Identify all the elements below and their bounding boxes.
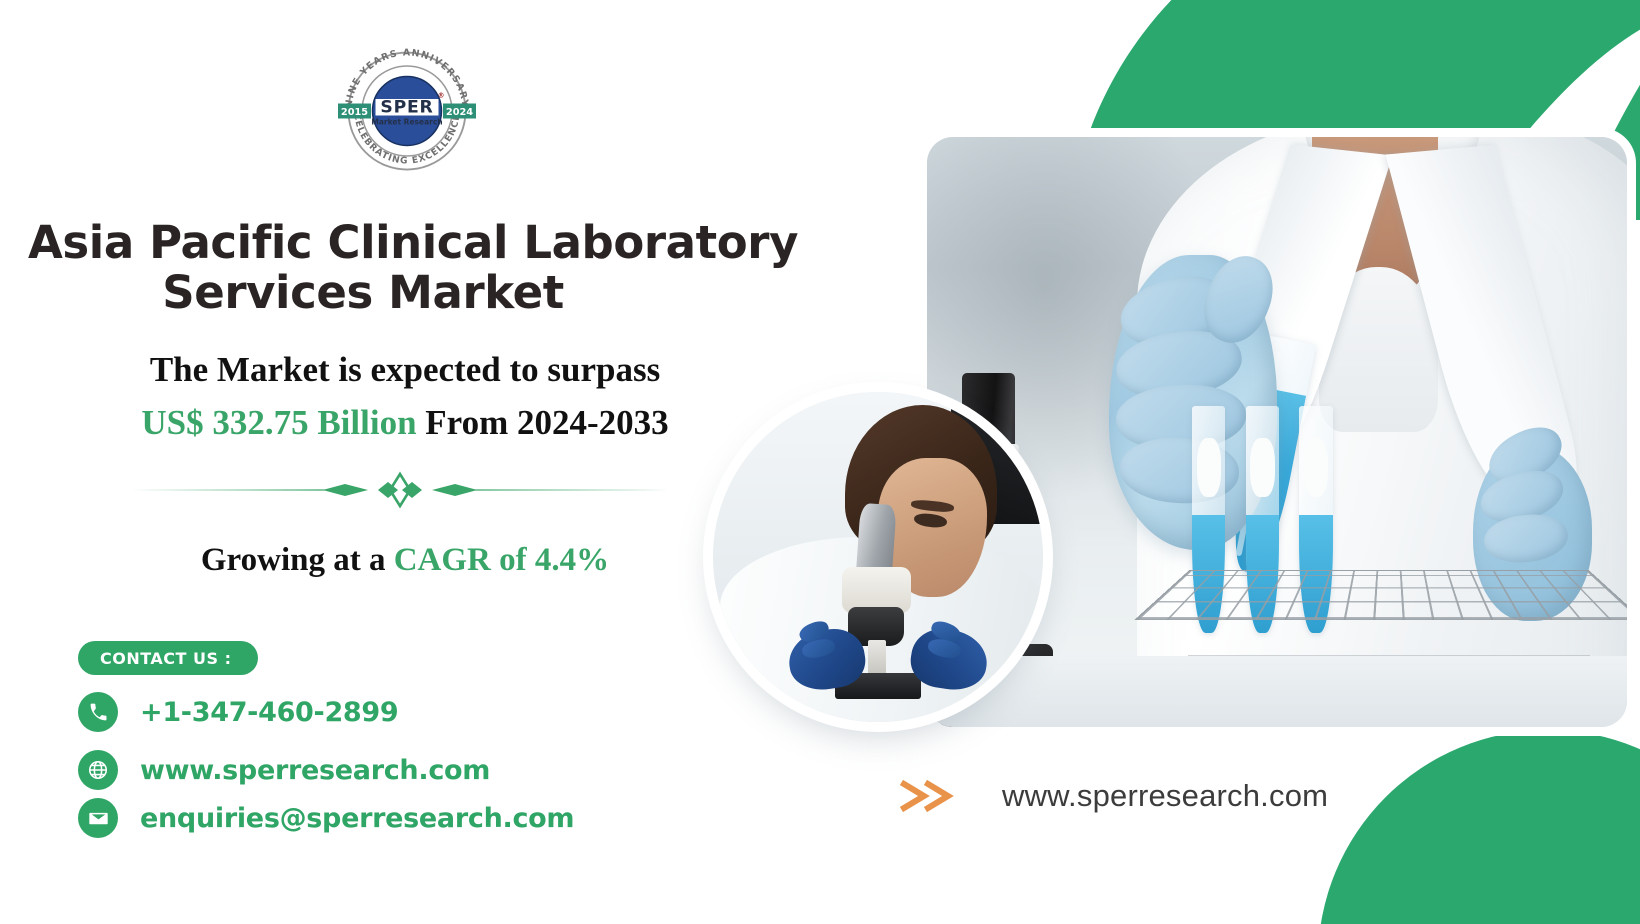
decor-blob-bottom-right	[1318, 730, 1640, 924]
title-line-2: Services Market	[28, 268, 888, 318]
contact-row-website[interactable]: www.sperresearch.com	[78, 750, 490, 790]
cagr-line: Growing at a CAGR of 4.4%	[0, 542, 810, 579]
email-address: enquiries@sperresearch.com	[140, 803, 574, 834]
contact-us-badge: CONTACT US :	[78, 641, 258, 675]
left-content-column: NINE YEARS ANNIVERSARY CELEBRATING EXCEL…	[0, 0, 930, 924]
cagr-value: CAGR of 4.4%	[394, 542, 609, 578]
svg-text:2024: 2024	[446, 107, 473, 118]
contact-us-label: CONTACT US :	[100, 649, 232, 668]
globe-icon	[78, 750, 118, 790]
ornamental-divider	[130, 468, 670, 512]
market-value: US$ 332.75 Billion	[141, 403, 416, 442]
title-line-1: Asia Pacific Clinical Laboratory	[28, 216, 798, 269]
svg-text:Market Research: Market Research	[371, 118, 442, 127]
logo-container: NINE YEARS ANNIVERSARY CELEBRATING EXCEL…	[318, 36, 496, 206]
poster-canvas: NINE YEARS ANNIVERSARY CELEBRATING EXCEL…	[0, 0, 1640, 924]
footer-bar: www.sperresearch.com	[900, 778, 1328, 814]
subhead-line-1: The Market is expected to surpass	[0, 350, 810, 390]
sper-anniversary-badge-icon: NINE YEARS ANNIVERSARY CELEBRATING EXCEL…	[332, 36, 482, 186]
forecast-period: From 2024-2033	[425, 403, 668, 442]
phone-icon	[78, 692, 118, 732]
double-chevron-right-icon	[900, 779, 960, 813]
phone-number: +1-347-460-2899	[140, 697, 398, 728]
svg-text:SPER: SPER	[380, 98, 433, 118]
footer-url: www.sperresearch.com	[1002, 778, 1328, 814]
subhead-line-2: US$ 332.75 Billion From 2024-2033	[0, 403, 810, 443]
contact-row-email[interactable]: enquiries@sperresearch.com	[78, 798, 574, 838]
contact-row-phone[interactable]: +1-347-460-2899	[78, 692, 398, 732]
website-url: www.sperresearch.com	[140, 755, 490, 786]
page-title: Asia Pacific Clinical Laboratory Service…	[28, 218, 888, 319]
svg-text:®: ®	[438, 92, 445, 100]
envelope-icon	[78, 798, 118, 838]
cagr-prefix: Growing at a	[201, 542, 394, 578]
svg-text:2015: 2015	[341, 107, 368, 118]
